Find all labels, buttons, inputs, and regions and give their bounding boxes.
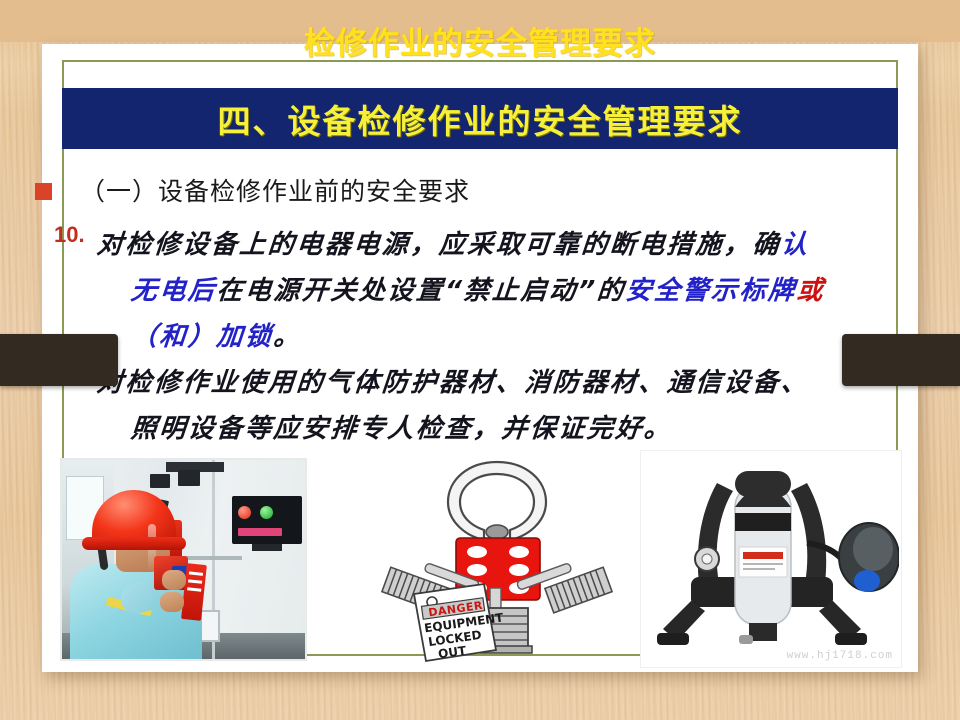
- full-face-mask: [839, 523, 899, 592]
- cylinder-band: [735, 513, 791, 531]
- scba-breathing-apparatus-photo: www.hj1718.com: [640, 450, 902, 668]
- valve-outlet: [739, 635, 753, 644]
- text-line: 照明设备等应安排专人检查，并保证完好。: [95, 406, 919, 452]
- mask-visor: [853, 527, 893, 571]
- image-watermark: www.hj1718.com: [787, 650, 893, 662]
- cylinder-top: [735, 471, 791, 497]
- subheading-text: （一）设备检修作业前的安全要求: [80, 172, 470, 208]
- list-item-number: 10.: [54, 222, 85, 248]
- worker-hand: [160, 592, 184, 612]
- worker-lockout-photo: [60, 458, 307, 661]
- scba-svg: [641, 451, 899, 665]
- screen-readout: [238, 528, 282, 536]
- red-indicator-light: [238, 506, 251, 519]
- decorative-band-right: [842, 334, 960, 386]
- label-red-band: [743, 552, 783, 559]
- cylinder-label: [739, 547, 787, 577]
- cylinder-valve: [749, 623, 777, 641]
- slide-content: （一）设备检修作业前的安全要求 10. 对检修设备上的电器电源，应采取可靠的断电…: [42, 150, 918, 670]
- slide-title-text: 四、设备检修作业的安全管理要求: [218, 95, 743, 143]
- belt-buckle-right: [835, 633, 867, 645]
- text-run: 照明设备等应安排专人检查，并保证完好。: [130, 414, 674, 444]
- mask-regulator: [854, 570, 880, 592]
- text-line: （和）加锁。: [95, 314, 919, 360]
- hasp-pivot: [486, 525, 508, 539]
- wood-plank-top: [0, 0, 960, 42]
- switch-icon: [150, 474, 170, 488]
- subheading-row: （一）设备检修作业前的安全要求: [42, 172, 918, 212]
- text-run: 无电后: [130, 276, 218, 306]
- switch-icon: [178, 470, 200, 486]
- slide-title-banner: 四、设备检修作业的安全管理要求: [62, 88, 898, 149]
- hasp-hole: [467, 546, 487, 558]
- hasp-hole: [509, 564, 529, 576]
- text-run: 或: [795, 276, 826, 306]
- text-run: 认: [780, 230, 811, 260]
- hasp-hole: [509, 546, 529, 558]
- square-bullet-icon: [35, 183, 52, 200]
- text-run: 安全警示标牌: [624, 276, 798, 306]
- gauge-face: [702, 554, 712, 564]
- belt-buckle-left: [657, 633, 689, 645]
- text-line: 对检修作业使用的气体防护器材、消防器材、通信设备、: [95, 360, 919, 406]
- tag-line3: OUT: [437, 643, 468, 661]
- list-item-lines: 对检修设备上的电器电源，应采取可靠的断电措施，确认无电后在电源开关处设置“禁止启…: [97, 222, 917, 360]
- worker-hand: [162, 570, 186, 590]
- text-line: 对检修设备上的电器电源，应采取可靠的断电措施，确认: [95, 222, 919, 268]
- lockout-hasp-illustration: DANGER EQUIPMENT LOCKED OUT: [380, 452, 614, 664]
- decorative-band-left: [0, 334, 118, 386]
- text-run: 对检修设备上的电器电源，应采取可靠的断电措施，确: [96, 230, 783, 260]
- monitor-screen: [232, 496, 302, 544]
- text-run: 在电源开关处设置“禁止启动”的: [215, 276, 627, 306]
- green-indicator-light: [260, 506, 273, 519]
- text-run: （和）加锁: [130, 322, 275, 352]
- text-run: 对检修作业使用的气体防护器材、消防器材、通信设备、: [96, 368, 811, 398]
- hasp-hole: [467, 564, 487, 576]
- text-line: 无电后在电源开关处设置“禁止启动”的安全警示标牌或: [95, 268, 919, 314]
- text-run: 。: [272, 322, 303, 352]
- list-item-lines: 对检修作业使用的气体防护器材、消防器材、通信设备、照明设备等应安排专人检查，并保…: [97, 360, 917, 452]
- hasp-svg: DANGER EQUIPMENT LOCKED OUT: [380, 452, 614, 664]
- picture-strip: DANGER EQUIPMENT LOCKED OUT: [42, 452, 918, 667]
